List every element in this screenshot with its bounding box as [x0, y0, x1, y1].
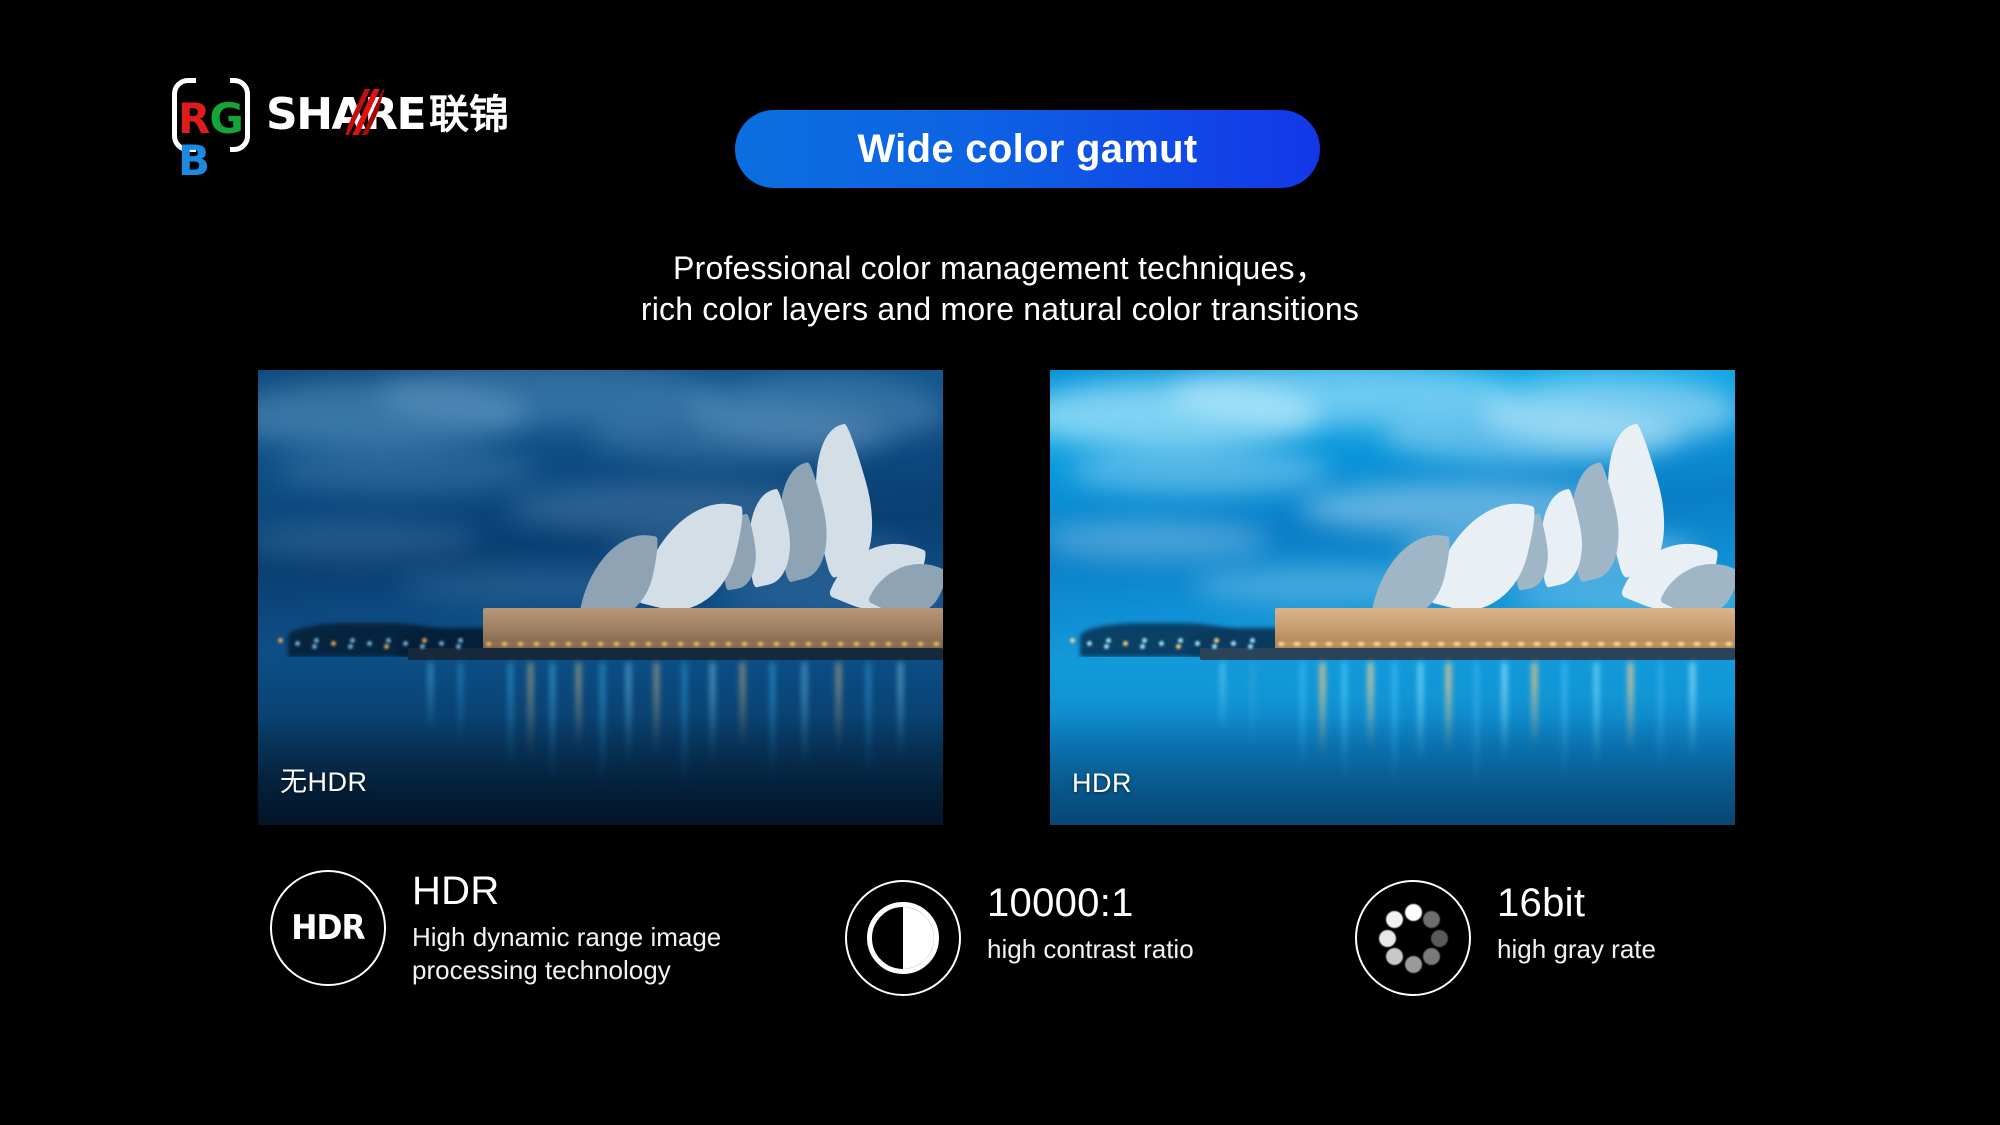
- gray-dot: [1405, 956, 1422, 973]
- shore-light: [331, 641, 336, 646]
- comparison-photos: 无HDR HDR: [0, 370, 2000, 825]
- slide-root: RGB SHARE 联锦 Wide color gamut Profession…: [0, 0, 2000, 1125]
- shore-light: [458, 638, 463, 643]
- photo-caption-hdr: HDR: [1072, 768, 1132, 799]
- shore-light: [295, 641, 300, 646]
- contrast-half-circle-icon: [867, 902, 939, 974]
- feature-subtitle-contrast: high contrast ratio: [987, 933, 1194, 966]
- shore-light: [456, 644, 461, 649]
- page-title: Wide color gamut: [857, 127, 1197, 172]
- gray-dot: [1386, 948, 1403, 965]
- shore-light: [1104, 644, 1109, 649]
- shore-light: [1212, 644, 1217, 649]
- gray-dot: [1386, 911, 1403, 928]
- feature-text-contrast: 10000:1 high contrast ratio: [987, 882, 1194, 966]
- hdr-badge-label: HDR: [291, 908, 364, 948]
- shore-light: [1142, 638, 1147, 643]
- shore-light: [1250, 638, 1255, 643]
- podium-light-row: [486, 642, 941, 646]
- shore-light: [367, 641, 372, 646]
- shore-light: [420, 644, 425, 649]
- logo-letter-b: B: [178, 140, 209, 182]
- page-title-pill: Wide color gamut: [735, 110, 1320, 188]
- shore-light: [1176, 644, 1181, 649]
- quay-edge: [408, 648, 943, 660]
- logo-rgb-letters: RGB: [178, 98, 260, 182]
- cloud: [1070, 448, 1330, 494]
- shore-light: [1248, 644, 1253, 649]
- feature-subtitle-hdr: High dynamic range image processing tech…: [412, 921, 721, 988]
- cloud: [258, 520, 478, 560]
- gray-dot: [1405, 904, 1422, 921]
- feature-title-grayscale: 16bit: [1497, 882, 1656, 924]
- shore-light: [348, 644, 353, 649]
- brand-logo: RGB SHARE 联锦: [172, 78, 509, 152]
- photo-caption-no-hdr: 无HDR: [280, 760, 368, 799]
- shore-light: [1195, 641, 1200, 646]
- cloud: [278, 448, 538, 494]
- feature-subtitle-hdr-line2: processing technology: [412, 954, 721, 987]
- shore-light: [1231, 641, 1236, 646]
- shore-light: [312, 644, 317, 649]
- hdr-badge-icon: HDR: [270, 870, 386, 986]
- logo-wordmark-text: SHARE: [266, 93, 425, 137]
- cloud: [1050, 520, 1270, 560]
- feature-subtitle-contrast-line1: high contrast ratio: [987, 933, 1194, 966]
- shore-light: [1178, 638, 1183, 643]
- gray-dot: [1423, 948, 1440, 965]
- feature-text-grayscale: 16bit high gray rate: [1497, 882, 1656, 966]
- contrast-icon: [845, 880, 961, 996]
- feature-subtitle-grayscale-line1: high gray rate: [1497, 933, 1656, 966]
- subtitle-line-1: Professional color management techniques…: [673, 250, 1327, 286]
- feature-subtitle-hdr-line1: High dynamic range image: [412, 921, 721, 954]
- gray-dot: [1379, 930, 1396, 947]
- gray-dot: [1431, 930, 1448, 947]
- shore-light: [278, 638, 283, 643]
- subtitle-block: Professional color management techniques…: [0, 248, 2000, 330]
- shore-light: [1070, 638, 1075, 643]
- logo-chinese-name: 联锦: [429, 95, 509, 135]
- logo-bracket-icon: RGB: [172, 78, 260, 152]
- water-vignette: [1050, 715, 1735, 825]
- cloud: [1480, 376, 1735, 446]
- photo-no-hdr: 无HDR: [258, 370, 943, 825]
- shore-light: [384, 644, 389, 649]
- shore-light: [1106, 638, 1111, 643]
- gray-dot: [1423, 911, 1440, 928]
- logo-wordmark: SHARE 联锦: [266, 93, 509, 137]
- logo-letter-r: R: [178, 98, 209, 140]
- feature-list: HDR HDR High dynamic range image process…: [0, 860, 2000, 1040]
- gray-dot-ring: [1376, 901, 1450, 975]
- shore-light: [386, 638, 391, 643]
- photo-hdr: HDR: [1050, 370, 1735, 825]
- logo-letter-g: G: [209, 98, 242, 140]
- shore-light: [314, 638, 319, 643]
- shore-light: [1087, 641, 1092, 646]
- feature-title-hdr: HDR: [412, 870, 721, 912]
- shore-light: [439, 641, 444, 646]
- shore-light: [422, 638, 427, 643]
- shore-light: [350, 638, 355, 643]
- shore-light: [1214, 638, 1219, 643]
- feature-text-hdr: HDR High dynamic range image processing …: [412, 870, 721, 988]
- feature-item-hdr: HDR HDR High dynamic range image process…: [270, 870, 721, 988]
- feature-item-grayscale: 16bit high gray rate: [1355, 880, 1656, 996]
- podium-light-row: [1278, 642, 1733, 646]
- shore-light: [403, 641, 408, 646]
- feature-subtitle-grayscale: high gray rate: [1497, 933, 1656, 966]
- shore-light: [1159, 641, 1164, 646]
- shore-light: [1123, 641, 1128, 646]
- feature-item-contrast: 10000:1 high contrast ratio: [845, 880, 1194, 996]
- feature-title-contrast: 10000:1: [987, 882, 1194, 924]
- cloud: [688, 376, 943, 446]
- shore-light: [1140, 644, 1145, 649]
- subtitle-line-2: rich color layers and more natural color…: [0, 289, 2000, 330]
- quay-edge: [1200, 648, 1735, 660]
- gray-scale-dots-icon: [1355, 880, 1471, 996]
